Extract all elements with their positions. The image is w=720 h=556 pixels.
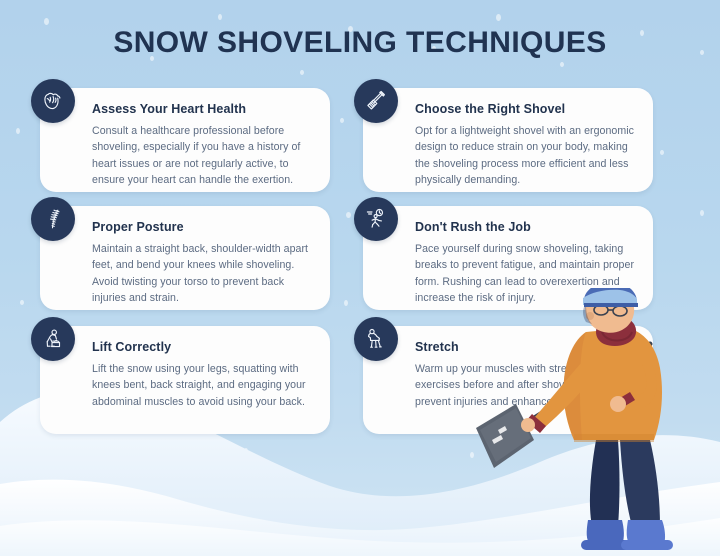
card-body: Maintain a straight back, shoulder-width… xyxy=(92,241,312,307)
page-title: SNOW SHOVELING TECHNIQUES xyxy=(0,26,720,60)
person-lifting-box-icon xyxy=(31,317,75,361)
person-stretching-icon xyxy=(354,317,398,361)
shovel-icon xyxy=(354,79,398,123)
card-body: Opt for a lightweight shovel with an erg… xyxy=(415,123,635,189)
card-title: Assess Your Heart Health xyxy=(92,102,312,116)
spine-icon xyxy=(31,197,75,241)
infographic-canvas: SNOW SHOVELING TECHNIQUES Assess Your He… xyxy=(0,0,720,556)
tip-card-proper-posture[interactable]: Proper Posture Maintain a straight back,… xyxy=(40,206,330,310)
card-body: Lift the snow using your legs, squatting… xyxy=(92,361,312,410)
tip-card-assess-your-heart-health[interactable]: Assess Your Heart Health Consult a healt… xyxy=(40,88,330,192)
card-title: Proper Posture xyxy=(92,220,312,234)
person-shoveling-snow-illustration xyxy=(470,288,720,556)
running-person-clock-icon xyxy=(354,197,398,241)
tip-card-lift-correctly[interactable]: Lift Correctly Lift the snow using your … xyxy=(40,326,330,434)
heart-icon xyxy=(31,79,75,123)
card-body: Consult a healthcare professional before… xyxy=(92,123,312,189)
card-title: Lift Correctly xyxy=(92,340,312,354)
card-title: Choose the Right Shovel xyxy=(415,102,635,116)
tip-card-choose-the-right-shovel[interactable]: Choose the Right Shovel Opt for a lightw… xyxy=(363,88,653,192)
card-title: Don't Rush the Job xyxy=(415,220,635,234)
